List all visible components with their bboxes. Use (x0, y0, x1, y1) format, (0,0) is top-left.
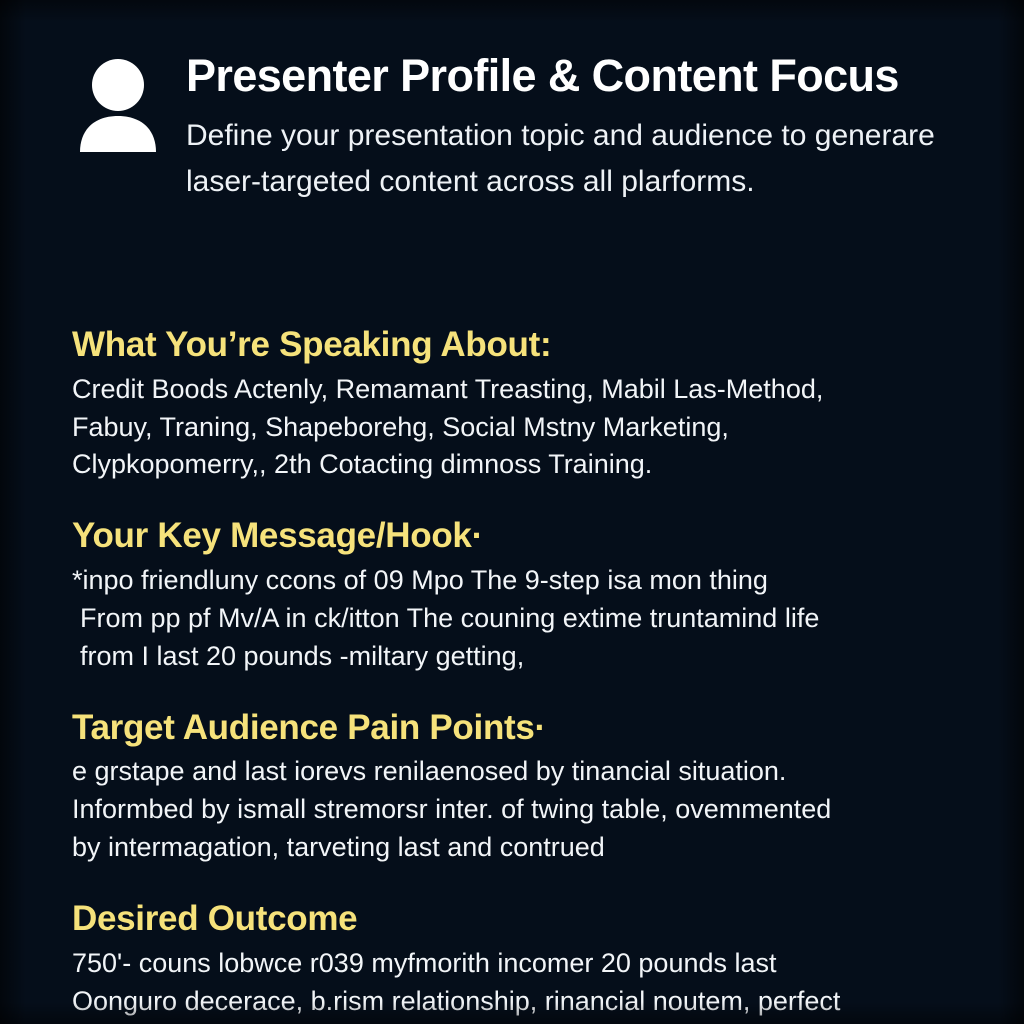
page-title: Presenter Profile & Content Focus (186, 52, 972, 99)
section-body-line: 750'- couns lobwce r039 myfmorith income… (72, 945, 977, 983)
section-body-line: Oonguro decerace, b.rism relationship, r… (72, 983, 977, 1021)
section-body: Credit Boods Actenly, Remamant Treasting… (72, 371, 977, 484)
section-body-line: Clypkopomerry,, 2th Cotacting dimnoss Tr… (72, 446, 977, 484)
section-what-youre-speaking-about: What You’re Speaking About: Credit Boods… (72, 325, 992, 484)
section-body-line: Informbed by ismall stremorsr inter. of … (72, 791, 977, 829)
section-body-line: debt adverse revrtion m tht ouns (72, 1020, 977, 1024)
section-desired-outcome: Desired Outcome 750'- couns lobwce r039 … (72, 899, 992, 1024)
section-body-line: Fabuy, Traning, Shapeborehg, Social Mstn… (72, 409, 977, 447)
section-body-line: from I last 20 pounds -miltary getting, (72, 638, 977, 676)
section-heading: Target Audience Pain Points· (72, 708, 992, 748)
section-heading: Desired Outcome (72, 899, 992, 939)
section-your-key-message-hook: Your Key Message/Hook· *inpo friendluny … (72, 516, 992, 675)
section-body-line: Credit Boods Actenly, Remamant Treasting… (72, 371, 977, 409)
section-body-line: by intermagation, tarveting last and con… (72, 829, 977, 867)
header-text-block: Presenter Profile & Content Focus Define… (164, 52, 972, 204)
page-subtitle: Define your presentation topic and audie… (186, 113, 972, 204)
section-heading: What You’re Speaking About: (72, 325, 992, 365)
section-body: 750'- couns lobwce r039 myfmorith income… (72, 945, 977, 1024)
panel-header: Presenter Profile & Content Focus Define… (72, 52, 972, 204)
section-body: e grstape and last iorevs renilaenosed b… (72, 753, 977, 866)
section-body-line: From pp pf Mv/A in ck/itton The couning … (72, 600, 977, 638)
section-body-line: e grstape and last iorevs renilaenosed b… (72, 753, 977, 791)
section-target-audience-pain-points: Target Audience Pain Points· e grstape a… (72, 708, 992, 867)
section-heading: Your Key Message/Hook· (72, 516, 992, 556)
section-body-line: *inpo friendluny ccons of 09 Mpo The 9-s… (72, 562, 977, 600)
content-sections: What You’re Speaking About: Credit Boods… (72, 325, 992, 1024)
section-body: *inpo friendluny ccons of 09 Mpo The 9-s… (72, 562, 977, 675)
presenter-profile-panel: Presenter Profile & Content Focus Define… (0, 0, 1024, 1024)
user-avatar-icon (72, 52, 164, 154)
